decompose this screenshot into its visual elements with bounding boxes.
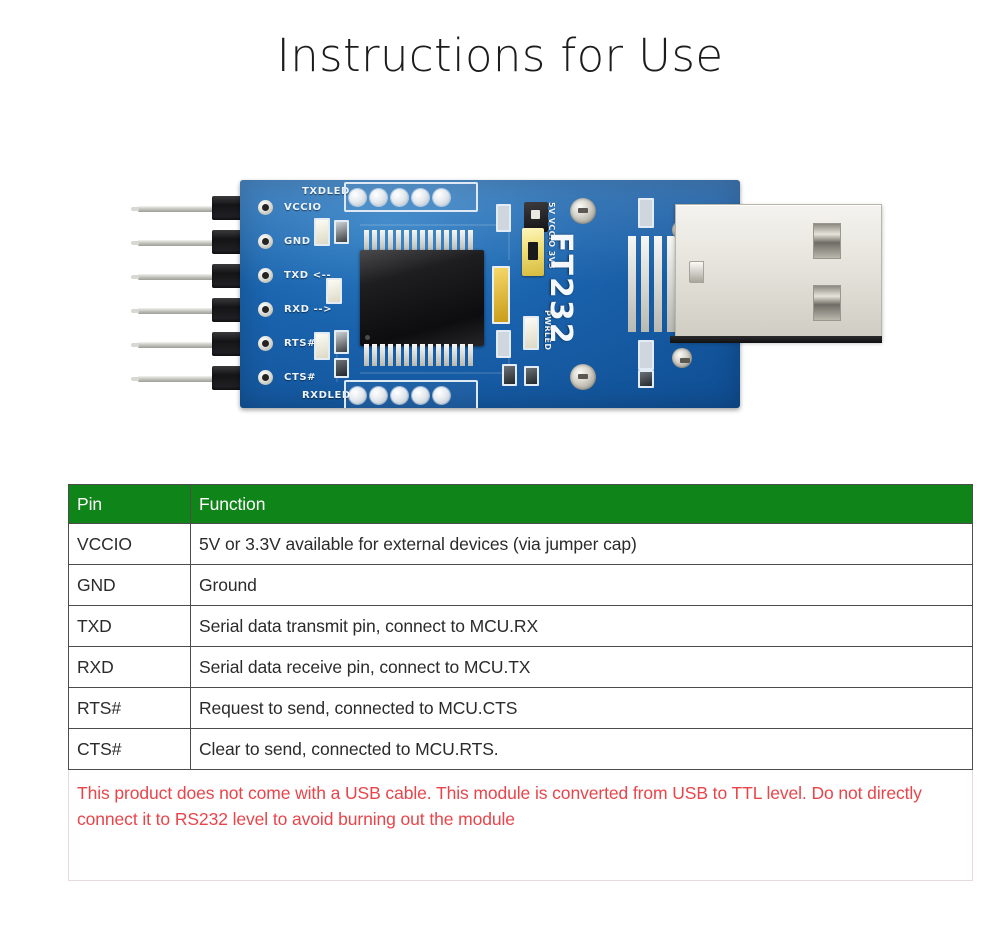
table-warning-row: This product does not come with a USB ca… <box>69 770 973 881</box>
pin-function-table: Pin Function VCCIO 5V or 3.3V available … <box>68 484 973 881</box>
cell-function: Clear to send, connected to MCU.RTS. <box>191 729 973 770</box>
bottom-pad-strip <box>344 380 478 408</box>
pin-solder-ring <box>258 302 273 317</box>
pcb-pad <box>433 189 450 206</box>
smd-resistor <box>334 220 349 244</box>
header-pin-leg <box>138 308 220 314</box>
jumper-cap[interactable] <box>522 228 544 276</box>
smd-led-mid <box>326 278 342 304</box>
cell-pin: RXD <box>69 647 191 688</box>
pcb-trace <box>360 224 510 226</box>
pcb-trace <box>360 372 510 374</box>
ic-legs-bottom <box>364 344 473 366</box>
header-pin-leg <box>138 376 220 382</box>
cell-function: 5V or 3.3V available for external device… <box>191 524 973 565</box>
smd-led-txd <box>314 218 330 246</box>
ic-legs-top <box>364 230 473 252</box>
pcb-substrate: VCCIO GND TXD <-- RXD --> RTS# CTS# TXDL… <box>240 180 740 408</box>
ft232-ic-chip <box>360 250 484 346</box>
smd-led-pwr <box>523 316 539 350</box>
smd-capacitor <box>638 198 654 228</box>
pcb-pad <box>349 387 366 404</box>
pcb-pad <box>391 387 408 404</box>
header-pin-leg <box>138 274 220 280</box>
pcb-pad <box>412 189 429 206</box>
smd-tantalum-cap <box>492 266 510 324</box>
pin-solder-ring <box>258 234 273 249</box>
cell-pin: RTS# <box>69 688 191 729</box>
silk-brand-ft232: FT232 <box>543 232 578 346</box>
cell-function: Serial data transmit pin, connect to MCU… <box>191 606 973 647</box>
cell-function: Request to send, connected to MCU.CTS <box>191 688 973 729</box>
warning-cell: This product does not come with a USB ca… <box>69 770 973 881</box>
table-row: TXD Serial data transmit pin, connect to… <box>69 606 973 647</box>
smd-resistor <box>524 366 539 386</box>
silk-label-gnd: GND <box>284 236 311 247</box>
cell-function: Ground <box>191 565 973 606</box>
pin-solder-ring <box>258 336 273 351</box>
smd-resistor <box>502 364 517 386</box>
top-pad-strip <box>344 182 478 212</box>
pcb-pad <box>433 387 450 404</box>
mount-hole <box>570 198 596 224</box>
table-row: GND Ground <box>69 565 973 606</box>
smd-resistor <box>334 330 349 354</box>
silk-label-vccio: VCCIO <box>284 202 322 213</box>
usb-window <box>813 223 841 259</box>
header-pin-leg <box>138 240 220 246</box>
pcb-pad <box>370 189 387 206</box>
mount-hole <box>570 364 596 390</box>
header-pin-leg <box>138 342 220 348</box>
warning-text: This product does not come with a USB ca… <box>77 783 922 829</box>
page-title: Instructions for Use <box>0 30 1000 82</box>
silk-label-rxd: RXD --> <box>284 304 332 315</box>
usb-a-connector <box>675 204 882 341</box>
column-header-function: Function <box>191 485 973 524</box>
cell-pin: TXD <box>69 606 191 647</box>
silk-label-txdled: TXDLED <box>302 186 350 197</box>
smd-resistor <box>638 370 654 388</box>
table-header-row: Pin Function <box>69 485 973 524</box>
table-row: RTS# Request to send, connected to MCU.C… <box>69 688 973 729</box>
smd-capacitor <box>496 330 511 358</box>
cell-pin: VCCIO <box>69 524 191 565</box>
usb-window <box>813 285 841 321</box>
smd-capacitor <box>638 340 654 370</box>
column-header-pin: Pin <box>69 485 191 524</box>
ft232-board-photo: VCCIO GND TXD <-- RXD --> RTS# CTS# TXDL… <box>130 168 910 420</box>
smd-capacitor <box>496 204 511 232</box>
usb-shield-tab <box>672 348 692 368</box>
pin-solder-ring <box>258 370 273 385</box>
pcb-pad <box>391 189 408 206</box>
silk-label-cts: CTS# <box>284 372 316 383</box>
usb-notch <box>689 261 704 283</box>
cell-function: Serial data receive pin, connect to MCU.… <box>191 647 973 688</box>
pcb-pad <box>349 189 366 206</box>
table-row: RXD Serial data receive pin, connect to … <box>69 647 973 688</box>
silk-label-txd: TXD <-- <box>284 270 331 281</box>
smd-led-rxd <box>314 332 330 360</box>
cell-pin: GND <box>69 565 191 606</box>
smd-resistor <box>334 358 349 378</box>
header-pin-leg <box>138 206 220 212</box>
table-row: CTS# Clear to send, connected to MCU.RTS… <box>69 729 973 770</box>
pin-solder-ring <box>258 200 273 215</box>
table-row: VCCIO 5V or 3.3V available for external … <box>69 524 973 565</box>
pcb-pad <box>412 387 429 404</box>
pin-solder-ring <box>258 268 273 283</box>
silk-label-rts: RTS# <box>284 338 316 349</box>
pcb-pad <box>370 387 387 404</box>
usb-connector-underside <box>670 336 882 343</box>
cell-pin: CTS# <box>69 729 191 770</box>
